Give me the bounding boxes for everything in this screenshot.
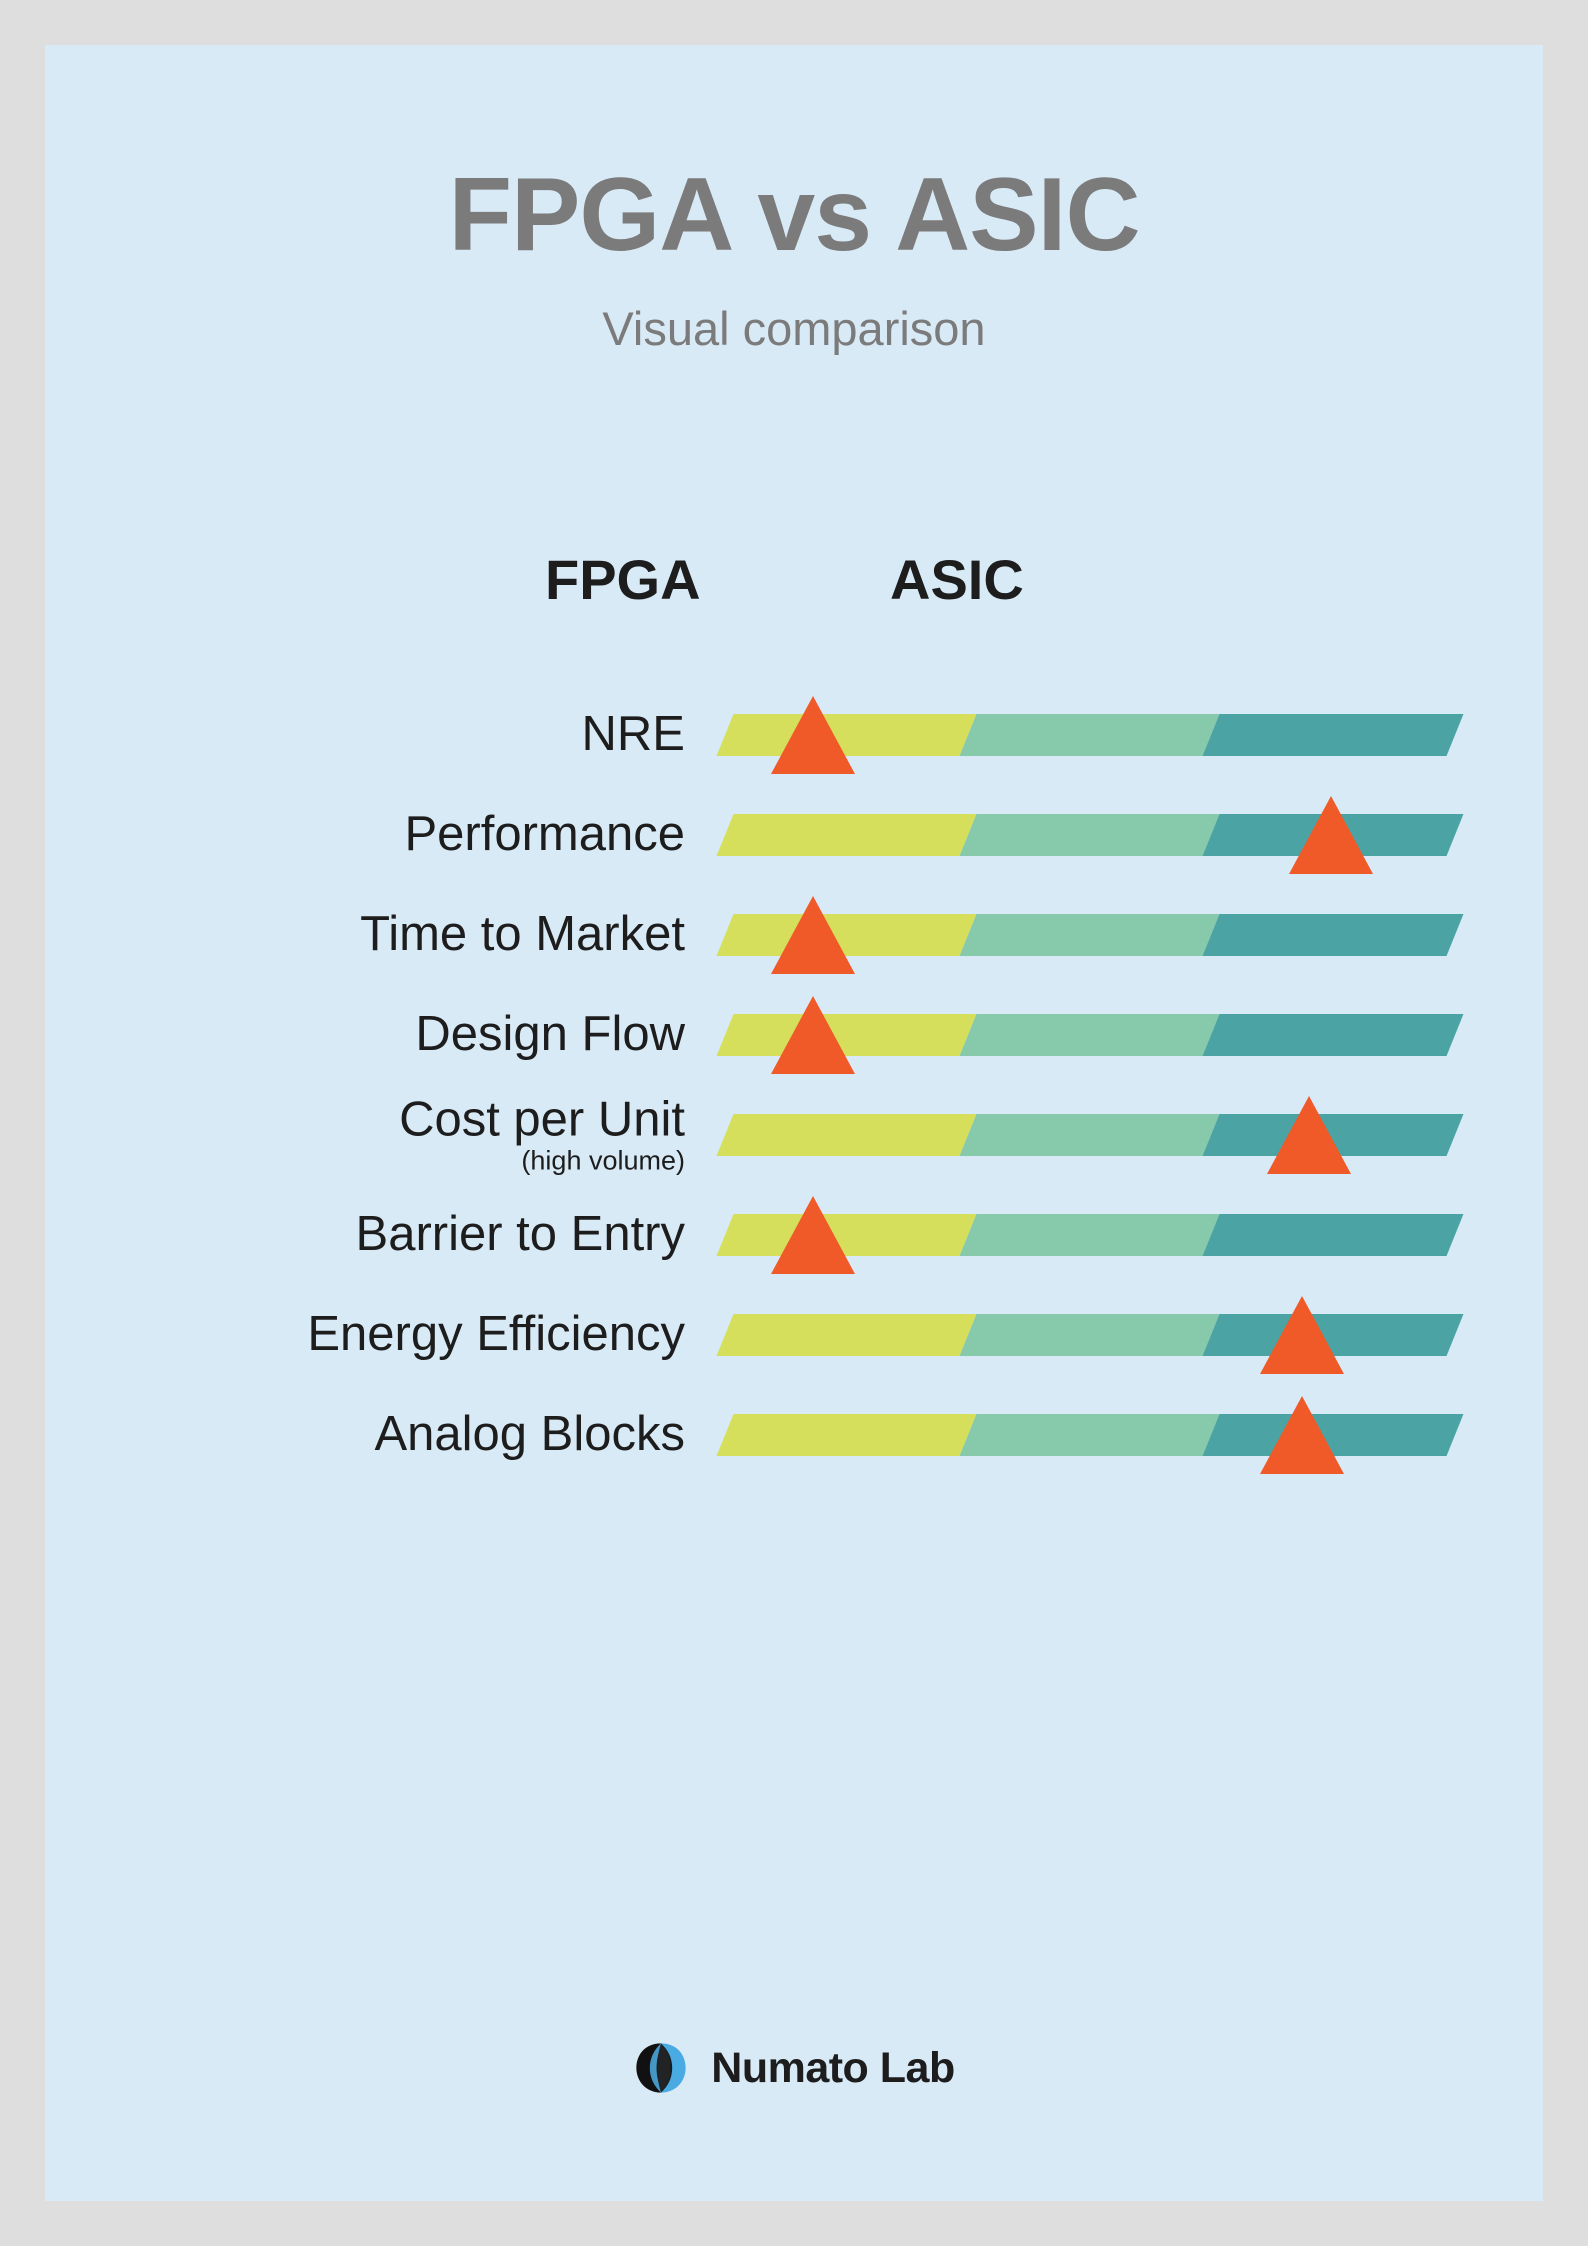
comparison-row: Energy Efficiency bbox=[45, 1285, 1543, 1385]
track-segment-high bbox=[1203, 1014, 1464, 1056]
row-label-main: Time to Market bbox=[45, 910, 685, 960]
row-label: Analog Blocks bbox=[45, 1410, 685, 1460]
row-label-sub: (high volume) bbox=[45, 1147, 685, 1175]
numato-logo-icon bbox=[633, 2040, 689, 2096]
row-label: Time to Market bbox=[45, 910, 685, 960]
poster-header: FPGA vs ASIC Visual comparison bbox=[45, 45, 1543, 352]
column-headers: FPGA ASIC bbox=[45, 547, 1543, 627]
track-segment-mid bbox=[960, 1314, 1220, 1356]
score-marker-triangle bbox=[771, 896, 855, 974]
comparison-track bbox=[725, 1414, 1455, 1456]
poster-panel: FPGA vs ASIC Visual comparison FPGA ASIC… bbox=[45, 45, 1543, 2201]
score-marker-triangle bbox=[1289, 796, 1373, 874]
row-label-main: Analog Blocks bbox=[45, 1410, 685, 1460]
score-marker-triangle bbox=[771, 996, 855, 1074]
track-segment-high bbox=[1203, 1214, 1464, 1256]
score-marker-triangle bbox=[1260, 1296, 1344, 1374]
comparison-track bbox=[725, 814, 1455, 856]
row-label-main: Design Flow bbox=[45, 1010, 685, 1060]
score-marker-triangle bbox=[771, 1196, 855, 1274]
row-label-main: Energy Efficiency bbox=[45, 1310, 685, 1360]
comparison-track bbox=[725, 714, 1455, 756]
row-label: Design Flow bbox=[45, 1010, 685, 1060]
page-subtitle: Visual comparison bbox=[45, 305, 1543, 352]
track-segment-low bbox=[717, 1314, 977, 1356]
score-marker-triangle bbox=[1267, 1096, 1351, 1174]
comparison-row: NRE bbox=[45, 685, 1543, 785]
track-segment-mid bbox=[960, 814, 1220, 856]
track-segment-mid bbox=[960, 914, 1220, 956]
row-label: Energy Efficiency bbox=[45, 1310, 685, 1360]
track-segment-mid bbox=[960, 714, 1220, 756]
comparison-row: Design Flow bbox=[45, 985, 1543, 1085]
column-header-fpga: FPGA bbox=[545, 547, 701, 612]
track-segment-mid bbox=[960, 1414, 1220, 1456]
row-label-main: NRE bbox=[45, 710, 685, 760]
comparison-track bbox=[725, 1014, 1455, 1056]
comparison-row: Barrier to Entry bbox=[45, 1185, 1543, 1285]
track-segment-mid bbox=[960, 1014, 1220, 1056]
track-segment-mid bbox=[960, 1114, 1220, 1156]
track-segment-low bbox=[717, 1114, 977, 1156]
footer-logo: Numato Lab bbox=[45, 2040, 1543, 2096]
track-segment-high bbox=[1203, 714, 1464, 756]
comparison-track bbox=[725, 1114, 1455, 1156]
comparison-track bbox=[725, 1214, 1455, 1256]
comparison-row: Cost per Unit(high volume) bbox=[45, 1085, 1543, 1185]
comparison-track bbox=[725, 914, 1455, 956]
comparison-rows: NREPerformanceTime to MarketDesign FlowC… bbox=[45, 685, 1543, 1485]
row-label-main: Cost per Unit bbox=[45, 1095, 685, 1145]
track-segment-high bbox=[1203, 914, 1464, 956]
brand-name: Numato Lab bbox=[711, 2047, 954, 2090]
comparison-track bbox=[725, 1314, 1455, 1356]
comparison-row: Performance bbox=[45, 785, 1543, 885]
comparison-row: Time to Market bbox=[45, 885, 1543, 985]
page-title: FPGA vs ASIC bbox=[45, 163, 1543, 267]
comparison-row: Analog Blocks bbox=[45, 1385, 1543, 1485]
column-header-asic: ASIC bbox=[890, 547, 1024, 612]
row-label-main: Barrier to Entry bbox=[45, 1210, 685, 1260]
track-segment-mid bbox=[960, 1214, 1220, 1256]
row-label: Performance bbox=[45, 810, 685, 860]
track-segment-low bbox=[717, 814, 977, 856]
row-label-main: Performance bbox=[45, 810, 685, 860]
row-label: NRE bbox=[45, 710, 685, 760]
track-segment-low bbox=[717, 1414, 977, 1456]
row-label: Barrier to Entry bbox=[45, 1210, 685, 1260]
score-marker-triangle bbox=[1260, 1396, 1344, 1474]
row-label: Cost per Unit(high volume) bbox=[45, 1095, 685, 1175]
score-marker-triangle bbox=[771, 696, 855, 774]
